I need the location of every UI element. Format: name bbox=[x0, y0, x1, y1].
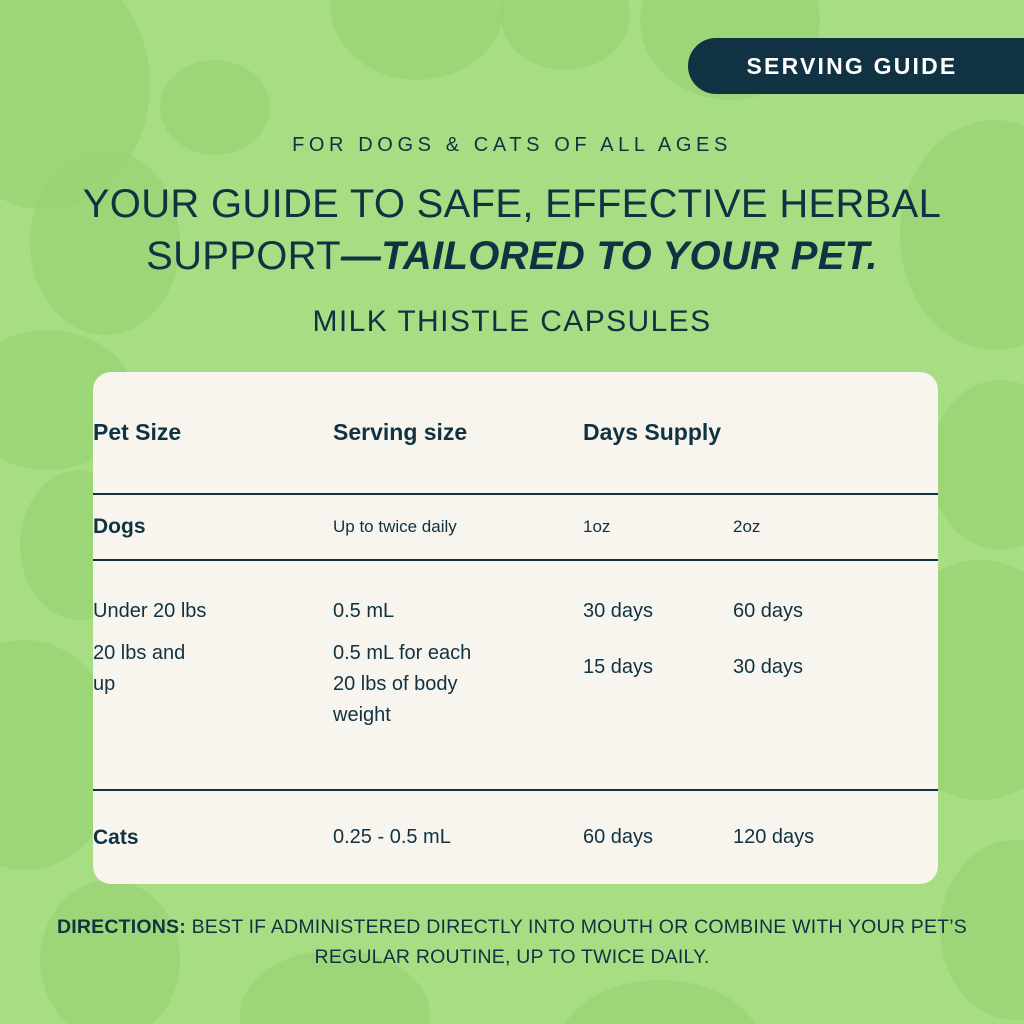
cell-serving-size: 0.25 - 0.5 mL bbox=[333, 790, 583, 884]
directions-note: DIRECTIONS: BEST IF ADMINISTERED DIRECTL… bbox=[50, 912, 974, 972]
cell-pet-size: Dogs bbox=[93, 494, 333, 560]
cell-serving-size-line3: weight bbox=[333, 704, 391, 726]
paw-blob bbox=[930, 380, 1024, 550]
product-name: MILK THISTLE CAPSULES bbox=[0, 305, 1024, 339]
cell-days-supply-1oz: 60 days bbox=[583, 790, 733, 884]
cell-pet-size-line2: up bbox=[93, 673, 115, 695]
serving-table-card: Pet Size Serving size Days Supply Dogs U… bbox=[93, 372, 938, 884]
cell-serving-size: Up to twice daily bbox=[333, 494, 583, 560]
page-title: YOUR GUIDE TO SAFE, EFFECTIVE HERBAL SUP… bbox=[40, 178, 984, 282]
table-row: Dogs Up to twice daily 1oz 2oz bbox=[93, 494, 938, 560]
cell-days-supply-2oz: 2oz bbox=[733, 494, 938, 560]
cell-days-supply-2oz: 120 days bbox=[733, 790, 938, 884]
paw-blob bbox=[330, 0, 505, 80]
table-row: Cats 0.25 - 0.5 mL 60 days 120 days bbox=[93, 790, 938, 884]
cell-serving-size: 0.5 mL bbox=[333, 560, 583, 628]
cell-days-supply-2oz: 30 days bbox=[733, 628, 938, 790]
cell-days-supply-1oz: 1oz bbox=[583, 494, 733, 560]
directions-label: DIRECTIONS: bbox=[57, 916, 186, 938]
cell-pet-size: Under 20 lbs bbox=[93, 560, 333, 628]
cell-days-supply-2oz: 60 days bbox=[733, 560, 938, 628]
directions-text: BEST IF ADMINISTERED DIRECTLY INTO MOUTH… bbox=[186, 916, 967, 968]
table-header-row: Pet Size Serving size Days Supply bbox=[93, 372, 938, 494]
cell-days-supply-1oz: 30 days bbox=[583, 560, 733, 628]
column-header-pet-size: Pet Size bbox=[93, 372, 333, 494]
cell-pet-size: Cats bbox=[93, 790, 333, 884]
paw-blob bbox=[500, 0, 630, 70]
table-row: 20 lbs and up 0.5 mL for each 20 lbs of … bbox=[93, 628, 938, 790]
table-row: Under 20 lbs 0.5 mL 30 days 60 days bbox=[93, 560, 938, 628]
cell-pet-size-line1: 20 lbs and bbox=[93, 642, 185, 664]
cell-serving-size-line1: 0.5 mL for each bbox=[333, 642, 471, 664]
serving-guide-badge-label: SERVING GUIDE bbox=[747, 53, 958, 80]
eyebrow-text: FOR DOGS & CATS OF ALL AGES bbox=[0, 134, 1024, 157]
cell-serving-size: 0.5 mL for each 20 lbs of body weight bbox=[333, 628, 583, 790]
cell-pet-size: 20 lbs and up bbox=[93, 628, 333, 790]
column-header-days-supply: Days Supply bbox=[583, 372, 938, 494]
cell-days-supply-1oz: 15 days bbox=[583, 628, 733, 790]
page-title-emphasis: —TAILORED TO YOUR PET. bbox=[341, 234, 878, 278]
serving-table: Pet Size Serving size Days Supply Dogs U… bbox=[93, 372, 938, 884]
serving-guide-badge: SERVING GUIDE bbox=[688, 38, 1024, 94]
cell-serving-size-line2: 20 lbs of body bbox=[333, 673, 458, 695]
column-header-serving-size: Serving size bbox=[333, 372, 583, 494]
paw-blob bbox=[560, 980, 760, 1024]
